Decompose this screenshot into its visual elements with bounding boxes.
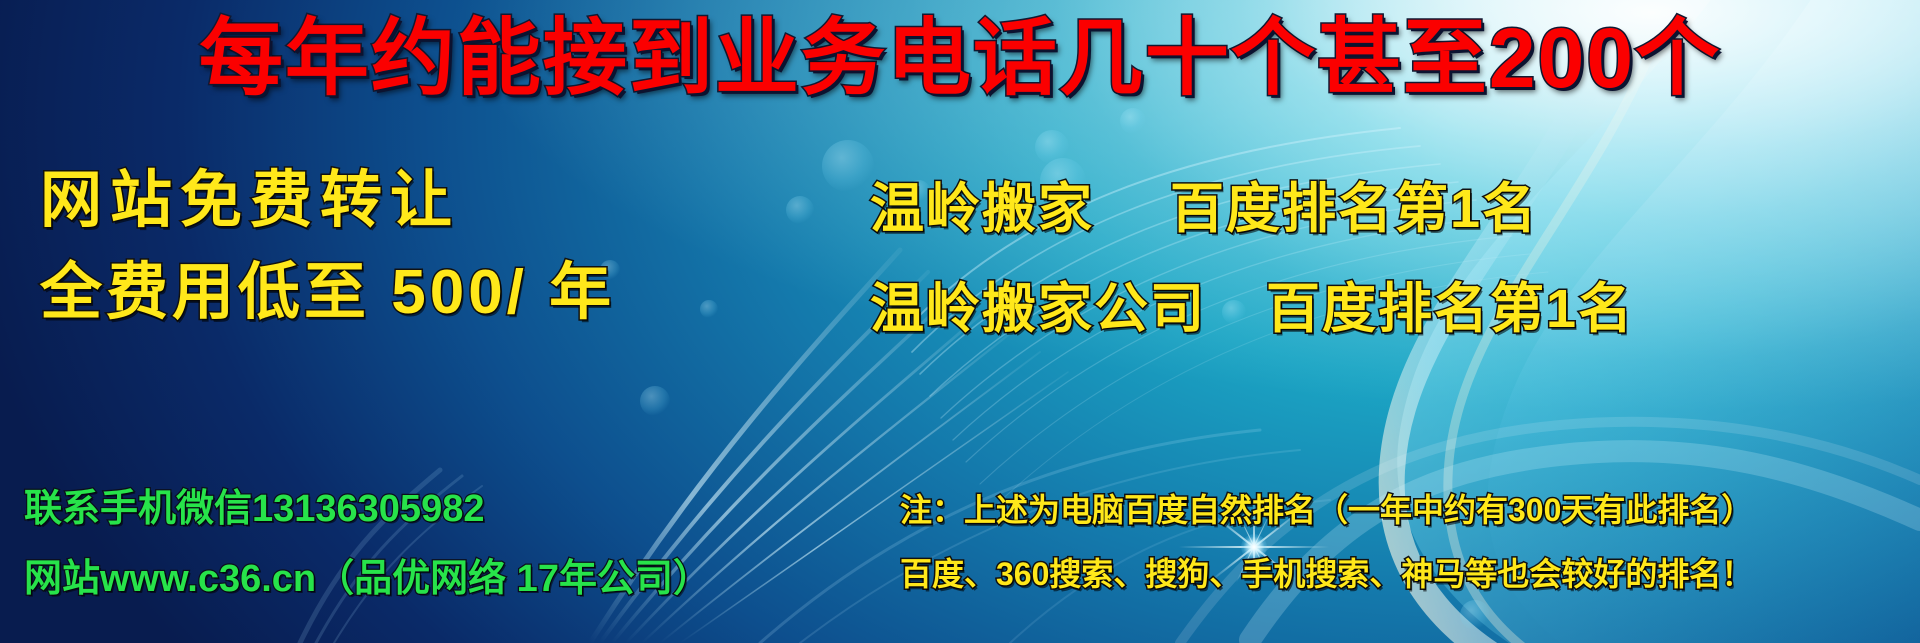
offer-line-price: 全费用低至 500/ 年 — [40, 262, 615, 324]
offer-line-transfer: 网站免费转让 — [40, 170, 460, 232]
bokeh-dot — [822, 140, 874, 192]
ranking-keyword-2: 温岭搬家公司 — [870, 279, 1206, 339]
note-line-2: 百度、360搜索、搜狗、手机搜索、神马等也会较好的排名！ — [900, 558, 1753, 590]
sparkle-ray — [1179, 546, 1329, 549]
bokeh-dot — [640, 386, 670, 416]
ranking-row-1: 温岭搬家 百度排名第1名 — [870, 182, 1538, 236]
starburst-sparkle — [1252, 545, 1256, 549]
ranking-keyword-1: 温岭搬家 — [870, 179, 1094, 239]
bokeh-dot — [1460, 600, 1490, 630]
bokeh-dot — [700, 300, 718, 318]
promo-banner: 每年约能接到业务电话几十个甚至200个 网站免费转让 全费用低至 500/ 年 … — [0, 0, 1920, 643]
ranking-result-1: 百度排名第1名 — [1170, 179, 1538, 239]
contact-phone-line: 联系手机微信13136305982 — [24, 490, 484, 528]
soft-arcs-mid — [760, 430, 1330, 643]
note-line-1: 注：上述为电脑百度自然排名（一年中约有300天有此排名） — [900, 494, 1753, 526]
ranking-result-2: 百度排名第1名 — [1266, 279, 1634, 339]
bokeh-dot — [786, 196, 814, 224]
bokeh-dot — [1120, 108, 1146, 134]
ranking-row-2: 温岭搬家公司 百度排名第1名 — [870, 282, 1634, 336]
banner-headline: 每年约能接到业务电话几十个甚至200个 — [0, 16, 1920, 100]
contact-website-line: 网站www.c36.cn（品优网络 17年公司） — [24, 560, 711, 598]
